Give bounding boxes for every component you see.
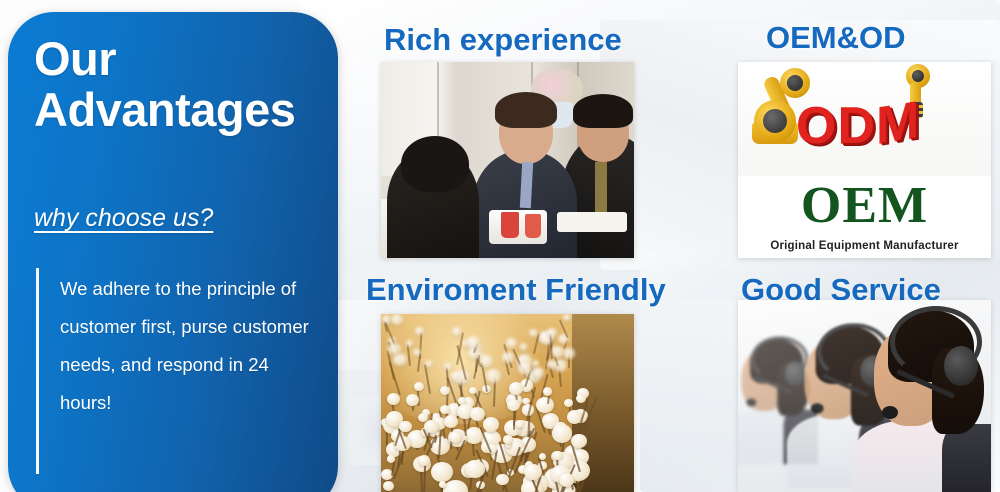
panel-title-line2: Advantages [34,85,324,136]
oem-label: OEM [738,180,991,232]
advantages-panel: Our Advantages why choose us? We adhere … [8,12,338,492]
panel-title: Our Advantages [34,34,324,136]
heading-enviroment-friendly: Enviroment Friendly [366,272,666,308]
odm-label: ODM [796,96,920,156]
customer-service-photo [738,300,991,492]
panel-subtitle: why choose us? [34,204,213,233]
oem-caption: Original Equipment Manufacturer [738,240,991,252]
robot-arm-joint-icon [754,100,796,142]
panel-body-text: We adhere to the principle of customer f… [60,270,312,422]
vertical-divider [36,268,39,474]
business-meeting-photo [381,62,634,258]
panel-title-line1: Our [34,34,324,85]
heading-oem-odm: OEM&OD [766,20,906,56]
heading-rich-experience: Rich experience [384,22,622,58]
advantages-banner: Our Advantages why choose us? We adhere … [0,0,1000,492]
cotton-field-photo [381,314,634,492]
odm-oem-graphic: ODM OEM Original Equipment Manufacturer [738,62,991,258]
